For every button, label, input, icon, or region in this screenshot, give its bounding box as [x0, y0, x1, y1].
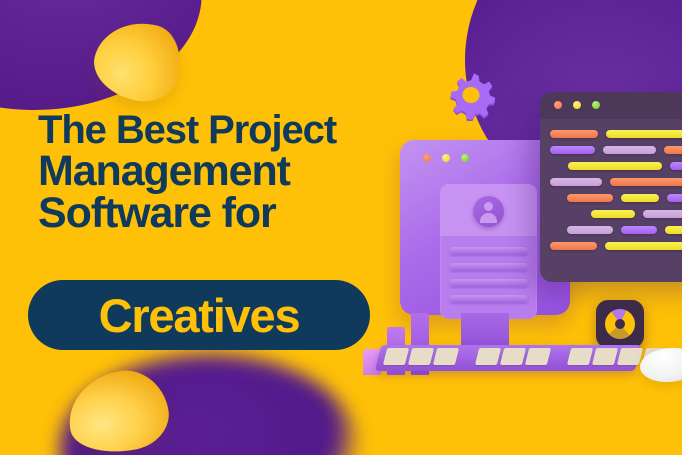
keyboard-key [408, 348, 434, 365]
code-segment-spacer [550, 210, 583, 218]
window-dot-green-icon [592, 101, 600, 109]
code-segment [591, 210, 635, 218]
code-segment [610, 178, 682, 186]
code-segment [664, 146, 682, 154]
code-line [540, 130, 682, 138]
headline-line-3: Software for [38, 193, 388, 233]
window-dot-green-icon [461, 154, 469, 162]
illustration-group [355, 55, 682, 410]
keyboard-key [383, 348, 409, 365]
keyboard-key [500, 348, 526, 365]
code-segment [665, 226, 682, 234]
code-line [540, 146, 682, 154]
code-window-dots [554, 101, 600, 109]
code-line [540, 194, 682, 202]
keyboard-key [525, 348, 551, 365]
code-segment [667, 194, 682, 202]
pie-chart-graphic [605, 309, 635, 339]
text-row [449, 279, 528, 287]
keyboard-key [475, 348, 501, 365]
user-avatar-icon [473, 196, 504, 227]
code-segment-spacer [550, 194, 559, 202]
code-segment [605, 242, 682, 250]
code-line [540, 242, 682, 250]
window-dot-yellow-icon [573, 101, 581, 109]
headline-group: The Best Project Management Software for [38, 112, 388, 233]
window-dot-red-icon [554, 101, 562, 109]
code-segment [567, 226, 613, 234]
code-line [540, 162, 682, 170]
headline-line-1: The Best Project [38, 112, 388, 149]
text-row [449, 247, 528, 255]
keyboard-key-gap [550, 348, 568, 365]
profile-card-header [440, 184, 537, 236]
code-lines-container [540, 119, 682, 250]
keyboard-key [592, 348, 618, 365]
code-segment [550, 146, 595, 154]
code-line [540, 210, 682, 218]
code-segment [550, 242, 597, 250]
keyboard-key [567, 348, 593, 365]
code-segment [621, 226, 657, 234]
monitor-window-dots [423, 154, 469, 162]
code-line [540, 226, 682, 234]
gear-icon [445, 69, 497, 121]
code-line [540, 178, 682, 186]
profile-card-rows [440, 236, 537, 303]
code-segment [550, 178, 602, 186]
text-row [449, 263, 528, 271]
code-segment [567, 194, 613, 202]
keyboard-key-gap [458, 348, 476, 365]
keyboard-key [433, 348, 459, 365]
keyboard-keys [383, 348, 668, 365]
code-segment [606, 130, 682, 138]
code-segment [621, 194, 659, 202]
code-segment-spacer [550, 162, 560, 170]
code-segment [643, 210, 682, 218]
highlight-pill: Creatives [28, 280, 370, 350]
code-editor-window [540, 92, 682, 282]
code-window-titlebar [540, 92, 682, 119]
code-segment [568, 162, 663, 170]
window-dot-yellow-icon [442, 154, 450, 162]
text-row [449, 295, 528, 303]
highlight-word: Creatives [99, 292, 300, 339]
code-segment [670, 162, 682, 170]
banner-canvas: The Best Project Management Software for… [0, 0, 682, 455]
code-segment [550, 130, 598, 138]
headline-line-2: Management [38, 151, 388, 191]
keyboard-key [617, 348, 643, 365]
profile-card [440, 184, 537, 319]
pie-chart-icon [596, 300, 644, 348]
code-segment-spacer [550, 226, 559, 234]
code-segment [603, 146, 656, 154]
window-dot-red-icon [423, 154, 431, 162]
